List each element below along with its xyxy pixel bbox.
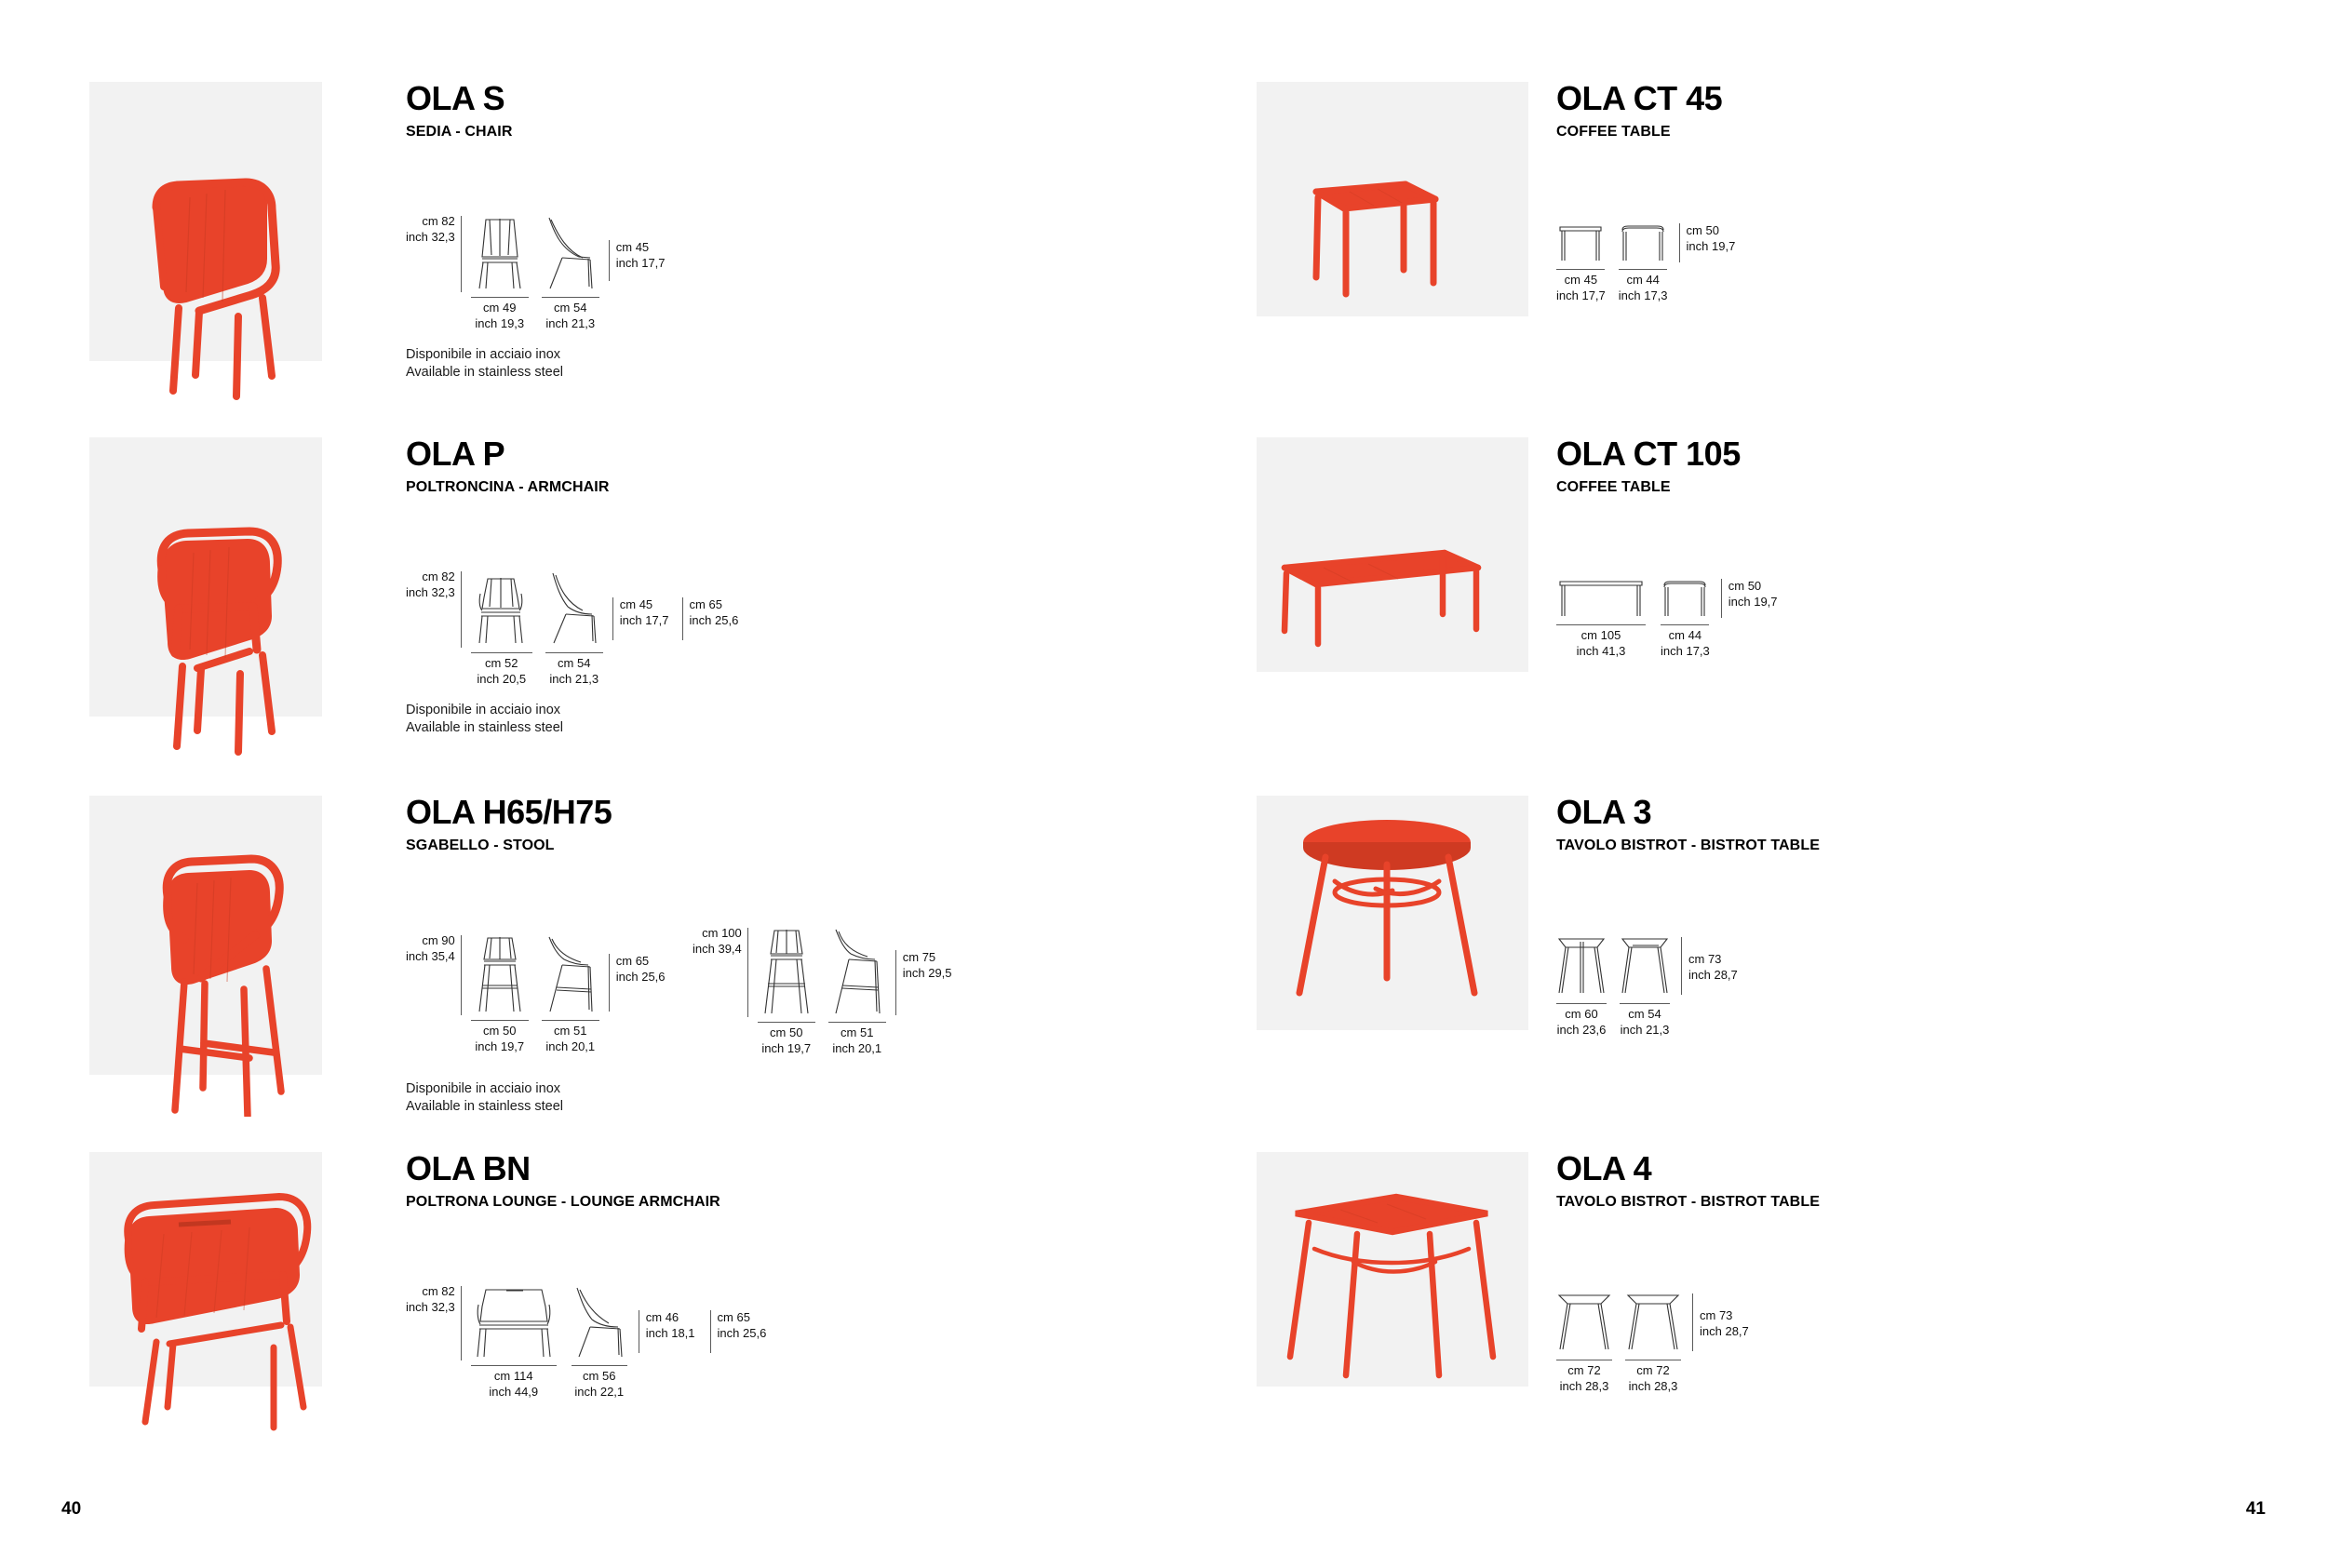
side-view-column: cm 54 inch 21,3 xyxy=(545,570,603,687)
arm-height-group: cm 65 inch 25,6 xyxy=(682,597,739,640)
width-rule xyxy=(1620,1003,1670,1004)
dimension-set: cm 105 inch 41,3 xyxy=(1556,575,1778,659)
technical-views: cm 105 inch 41,3 xyxy=(1556,575,1710,659)
side-view-drawing xyxy=(542,214,599,292)
dimension-set: cm 60 inch 23,6 xyxy=(1556,933,1738,1038)
table-height-group: cm 73 inch 28,7 xyxy=(1692,1293,1749,1351)
product-info-ola-bn: OLA BN POLTRONA LOUNGE - LOUNGE ARMCHAIR… xyxy=(397,1152,1132,1431)
dimension-set: cm 82 inch 32,3 xyxy=(406,214,666,331)
product-info-ola3: OLA 3 TAVOLO BISTROT - BISTROT TABLE xyxy=(1536,796,2299,1075)
product-photo-ola-s xyxy=(89,82,397,398)
height-label: cm 90 inch 35,4 xyxy=(406,933,461,964)
side-view-column: cm 72 inch 28,3 xyxy=(1625,1290,1681,1394)
side-width-label: cm 54 inch 21,3 xyxy=(545,301,595,331)
side-width-label: cm 44 inch 17,3 xyxy=(1619,273,1668,303)
product-ola-4: OLA 4 TAVOLO BISTROT - BISTROT TABLE xyxy=(1257,1152,2299,1431)
front-view-drawing xyxy=(1556,933,1607,998)
dimension-group-ola-h75: cm 100 inch 39,4 xyxy=(693,926,952,1056)
seat-height-label: cm 65 inch 25,6 xyxy=(610,954,666,985)
technical-views: cm 52 inch 20,5 xyxy=(462,570,603,687)
product-info-ola-p: OLA P POLTRONCINA - ARMCHAIR cm 82 inch … xyxy=(397,437,1104,754)
width-rule xyxy=(758,1022,815,1023)
side-width-label: cm 51 inch 20,1 xyxy=(832,1025,881,1056)
height-label: cm 50 inch 19,7 xyxy=(1722,579,1778,610)
side-view-drawing xyxy=(1625,1290,1681,1355)
product-subtitle: COFFEE TABLE xyxy=(1556,124,2299,141)
dimension-group-ct45: cm 45 inch 17,7 xyxy=(1556,221,1735,303)
front-view-column: cm 50 inch 19,7 xyxy=(758,926,815,1056)
width-rule xyxy=(1556,624,1646,625)
product-ola-p: OLA P POLTRONCINA - ARMCHAIR cm 82 inch … xyxy=(89,437,1104,754)
product-title: OLA S xyxy=(406,82,1104,115)
product-photo-ola-p xyxy=(89,437,397,754)
front-view-column: cm 114 inch 44,9 xyxy=(471,1284,557,1400)
side-view-column: cm 51 inch 20,1 xyxy=(828,926,886,1056)
seat-height-group: cm 75 inch 29,5 xyxy=(895,950,952,1015)
product-subtitle: POLTRONCINA - ARMCHAIR xyxy=(406,479,1104,496)
table-height-group: cm 73 inch 28,7 xyxy=(1681,937,1738,995)
width-rule xyxy=(1556,1360,1612,1360)
page-number-right: 41 xyxy=(2246,1499,2266,1520)
width-rule xyxy=(471,297,529,298)
side-view-column: cm 54 inch 21,3 xyxy=(1620,933,1670,1038)
product-ola-h65-h75: OLA H65/H75 SGABELLO - STOOL cm 90 inch … xyxy=(89,796,1132,1112)
product-photo-ola3 xyxy=(1257,796,1536,1075)
seat-height-group: cm 46 inch 18,1 xyxy=(639,1310,695,1353)
table-height-group: cm 50 inch 19,7 xyxy=(1721,579,1778,618)
side-view-drawing xyxy=(1661,575,1709,620)
front-view-column: cm 45 inch 17,7 xyxy=(1556,221,1606,303)
width-rule xyxy=(1661,624,1709,625)
seat-height-label: cm 75 inch 29,5 xyxy=(896,950,952,981)
dimension-set: cm 90 inch 35,4 xyxy=(406,933,666,1054)
technical-views: cm 50 inch 19,7 xyxy=(462,933,599,1054)
side-view-column: cm 51 inch 20,1 xyxy=(542,933,599,1054)
side-view-drawing xyxy=(828,926,886,1017)
product-subtitle: SGABELLO - STOOL xyxy=(406,838,1132,854)
seat-height-label: cm 46 inch 18,1 xyxy=(639,1310,695,1341)
front-view-column: cm 60 inch 23,6 xyxy=(1556,933,1607,1038)
dimension-set: cm 82 inch 32,3 xyxy=(406,1284,766,1400)
product-photo-ola-h xyxy=(89,796,397,1112)
width-rule xyxy=(1556,269,1605,270)
product-subtitle: TAVOLO BISTROT - BISTROT TABLE xyxy=(1556,838,2299,854)
front-width-label: cm 50 inch 19,7 xyxy=(475,1024,524,1054)
seat-height-label: cm 45 inch 17,7 xyxy=(613,597,669,628)
side-view-column: cm 56 inch 22,1 xyxy=(572,1284,627,1400)
side-view-column: cm 54 inch 21,3 xyxy=(542,214,599,331)
height-label: cm 73 inch 28,7 xyxy=(1682,937,1738,983)
side-view-drawing xyxy=(1619,221,1667,264)
side-width-label: cm 54 inch 21,3 xyxy=(1621,1007,1670,1038)
width-rule xyxy=(545,652,603,653)
product-info-ola-h: OLA H65/H75 SGABELLO - STOOL cm 90 inch … xyxy=(397,796,1132,1112)
height-label: cm 73 inch 28,7 xyxy=(1693,1293,1749,1339)
front-width-label: cm 52 inch 20,5 xyxy=(477,656,526,687)
product-title: OLA 3 xyxy=(1556,796,2299,829)
arm-height-label: cm 65 inch 25,6 xyxy=(683,597,739,628)
side-width-label: cm 44 inch 17,3 xyxy=(1661,628,1710,659)
height-label: cm 82 inch 32,3 xyxy=(406,570,461,600)
product-photo-ola4 xyxy=(1257,1152,1536,1431)
width-rule xyxy=(1556,1003,1607,1004)
product-info-ola4: OLA 4 TAVOLO BISTROT - BISTROT TABLE xyxy=(1536,1152,2299,1431)
product-subtitle: COFFEE TABLE xyxy=(1556,479,2299,496)
product-photo-ct105 xyxy=(1257,437,1536,717)
front-width-label: cm 72 inch 28,3 xyxy=(1560,1363,1609,1394)
technical-views: cm 45 inch 17,7 xyxy=(1556,221,1668,303)
product-ola-ct-105: OLA CT 105 COFFEE TABLE xyxy=(1257,437,2299,717)
front-width-label: cm 105 inch 41,3 xyxy=(1577,628,1626,659)
table-height-group: cm 50 inch 19,7 xyxy=(1679,223,1736,262)
product-ola-3: OLA 3 TAVOLO BISTROT - BISTROT TABLE xyxy=(1257,796,2299,1075)
product-title: OLA CT 105 xyxy=(1556,437,2299,471)
side-view-drawing xyxy=(572,1284,627,1360)
page-number-left: 40 xyxy=(61,1499,81,1520)
seat-height-group: cm 65 inch 25,6 xyxy=(609,954,666,1012)
front-width-label: cm 49 inch 19,3 xyxy=(475,301,524,331)
height-label: cm 100 inch 39,4 xyxy=(693,926,747,957)
product-ola-ct-45: OLA CT 45 COFFEE TABLE xyxy=(1257,82,2299,361)
width-rule xyxy=(471,1020,529,1021)
width-rule xyxy=(1625,1360,1681,1360)
side-view-column: cm 44 inch 17,3 xyxy=(1661,575,1710,659)
dimension-group-ola-h65: cm 90 inch 35,4 xyxy=(406,933,666,1054)
front-view-drawing xyxy=(758,926,815,1017)
lounge-ola-bn-photo xyxy=(89,1152,397,1431)
product-photo-ola-bn xyxy=(89,1152,397,1431)
product-title: OLA H65/H75 xyxy=(406,796,1132,829)
product-title: OLA P xyxy=(406,437,1104,471)
availability-note-ola-s: Disponibile in acciaio inox Available in… xyxy=(406,346,563,382)
technical-views: cm 72 inch 28,3 xyxy=(1556,1290,1681,1394)
front-view-column: cm 72 inch 28,3 xyxy=(1556,1290,1612,1394)
dimension-set: cm 82 inch 32,3 xyxy=(406,570,738,687)
product-ola-bn: OLA BN POLTRONA LOUNGE - LOUNGE ARMCHAIR… xyxy=(89,1152,1132,1431)
front-width-label: cm 45 inch 17,7 xyxy=(1556,273,1606,303)
width-rule xyxy=(542,297,599,298)
front-width-label: cm 60 inch 23,6 xyxy=(1557,1007,1607,1038)
technical-views: cm 49 inch 19,3 xyxy=(462,214,599,331)
seat-height-label: cm 45 inch 17,7 xyxy=(610,240,666,271)
technical-views: cm 114 inch 44,9 xyxy=(462,1284,627,1400)
product-photo-ct45 xyxy=(1257,82,1536,361)
arm-height-group: cm 65 inch 25,6 xyxy=(710,1310,767,1353)
front-view-drawing xyxy=(1556,1290,1612,1355)
front-view-column: cm 49 inch 19,3 xyxy=(471,214,529,331)
side-view-column: cm 44 inch 17,3 xyxy=(1619,221,1668,303)
product-ola-s: OLA S SEDIA - CHAIR cm 82 inch 32,3 xyxy=(89,82,1104,398)
width-rule xyxy=(542,1020,599,1021)
front-view-column: cm 52 inch 20,5 xyxy=(471,570,532,687)
dimension-group-ola4: cm 72 inch 28,3 xyxy=(1556,1290,1749,1394)
width-rule xyxy=(1619,269,1667,270)
height-label: cm 82 inch 32,3 xyxy=(406,1284,461,1315)
side-view-drawing xyxy=(542,933,599,1015)
dimension-group-ola-p: cm 82 inch 32,3 xyxy=(406,570,738,687)
dimension-set: cm 72 inch 28,3 xyxy=(1556,1290,1749,1394)
product-subtitle: SEDIA - CHAIR xyxy=(406,124,1104,141)
width-rule xyxy=(828,1022,886,1023)
product-info-ct45: OLA CT 45 COFFEE TABLE xyxy=(1536,82,2299,361)
bistrot-table-ola4-photo xyxy=(1257,1152,1536,1431)
technical-views: cm 60 inch 23,6 xyxy=(1556,933,1670,1038)
side-width-label: cm 51 inch 20,1 xyxy=(545,1024,595,1054)
side-width-label: cm 56 inch 22,1 xyxy=(574,1369,624,1400)
side-width-label: cm 72 inch 28,3 xyxy=(1629,1363,1678,1394)
width-rule xyxy=(471,1365,557,1366)
front-view-drawing xyxy=(1556,221,1605,264)
dimension-group-ct105: cm 105 inch 41,3 xyxy=(1556,575,1778,659)
catalog-page-left: OLA S SEDIA - CHAIR cm 82 inch 32,3 xyxy=(0,0,1163,1568)
front-view-drawing xyxy=(471,214,529,292)
seat-height-group: cm 45 inch 17,7 xyxy=(612,597,669,640)
front-width-label: cm 50 inch 19,7 xyxy=(761,1025,811,1056)
product-info-ola-s: OLA S SEDIA - CHAIR cm 82 inch 32,3 xyxy=(397,82,1104,398)
seat-height-group: cm 45 inch 17,7 xyxy=(609,240,666,281)
product-info-ct105: OLA CT 105 COFFEE TABLE xyxy=(1536,437,2299,717)
armchair-ola-p-photo xyxy=(89,437,397,758)
dimension-set: cm 100 inch 39,4 xyxy=(693,926,952,1056)
product-title: OLA 4 xyxy=(1556,1152,2299,1186)
front-view-drawing xyxy=(471,1284,557,1360)
front-view-column: cm 50 inch 19,7 xyxy=(471,933,529,1054)
front-width-label: cm 114 inch 44,9 xyxy=(489,1369,538,1400)
front-view-drawing xyxy=(471,570,532,648)
catalog-page-right: OLA CT 45 COFFEE TABLE xyxy=(1163,0,2327,1568)
front-view-column: cm 105 inch 41,3 xyxy=(1556,575,1646,659)
arm-height-label: cm 65 inch 25,6 xyxy=(711,1310,767,1341)
width-rule xyxy=(572,1365,627,1366)
width-rule xyxy=(471,652,532,653)
dimension-group-ola-s: cm 82 inch 32,3 xyxy=(406,214,666,331)
availability-note-ola-p: Disponibile in acciaio inox Available in… xyxy=(406,702,563,737)
side-view-drawing xyxy=(1620,933,1670,998)
chair-ola-s-photo xyxy=(89,82,397,403)
coffee-table-ct105-photo xyxy=(1257,437,1536,717)
product-title: OLA CT 45 xyxy=(1556,82,2299,115)
dimension-group-ola3: cm 60 inch 23,6 xyxy=(1556,933,1738,1038)
front-view-drawing xyxy=(471,933,529,1015)
height-label: cm 82 inch 32,3 xyxy=(406,214,461,245)
height-label: cm 50 inch 19,7 xyxy=(1680,223,1736,254)
dimension-group-ola-bn: cm 82 inch 32,3 xyxy=(406,1284,766,1400)
availability-note-ola-h: Disponibile in acciaio inox Available in… xyxy=(406,1080,563,1116)
product-subtitle: TAVOLO BISTROT - BISTROT TABLE xyxy=(1556,1194,2299,1211)
product-subtitle: POLTRONA LOUNGE - LOUNGE ARMCHAIR xyxy=(406,1194,1132,1211)
side-width-label: cm 54 inch 21,3 xyxy=(549,656,599,687)
catalog-spread: OLA S SEDIA - CHAIR cm 82 inch 32,3 xyxy=(0,0,2327,1568)
dimension-set: cm 45 inch 17,7 xyxy=(1556,221,1735,303)
product-title: OLA BN xyxy=(406,1152,1132,1186)
stool-ola-h-photo xyxy=(89,796,397,1117)
side-view-drawing xyxy=(545,570,603,648)
front-view-drawing xyxy=(1556,575,1646,620)
coffee-table-ct45-photo xyxy=(1257,82,1536,361)
bistrot-table-ola3-photo xyxy=(1257,796,1536,1075)
technical-views: cm 50 inch 19,7 xyxy=(748,926,886,1056)
